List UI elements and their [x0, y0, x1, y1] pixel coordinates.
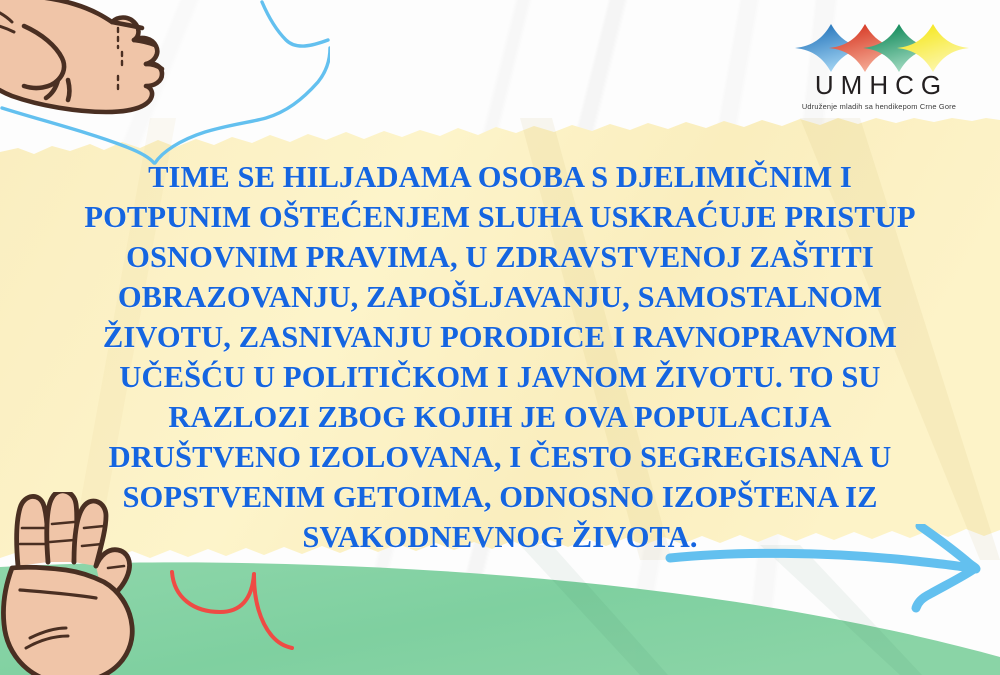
headline-line: SVAKODNEVNOG ŽIVOTA. — [40, 517, 960, 557]
umhcg-wordmark: UMHCG — [789, 72, 969, 98]
headline-line: POTPUNIM OŠTEĆENJEM SLUHA USKRAĆUJE PRIS… — [40, 197, 960, 237]
headline-line: OSNOVNIM PRAVIMA, U ZDRAVSTVENOJ ZAŠTITI — [40, 237, 960, 277]
headline-line: UČEŠĆU U POLITIČKOM I JAVNOM ŽIVOTU. TO … — [40, 357, 960, 397]
red-curve-icon — [168, 566, 298, 656]
headline-line: TIME SE HILJADAMA OSOBA S DJELIMIČNIM I — [40, 157, 960, 197]
headline-line: ŽIVOTU, ZASNIVANJU PORODICE I RAVNOPRAVN… — [40, 317, 960, 357]
umhcg-tagline: Udruženje mladih sa hendikepom Crne Gore — [789, 102, 969, 111]
sign-language-hand-fist-icon — [0, 0, 214, 118]
headline-line: SOPSTVENIM GETOIMA, ODNOSNO IZOPŠTENA IZ — [40, 477, 960, 517]
umhcg-logo: UMHCG Udruženje mladih sa hendikepom Crn… — [789, 18, 969, 114]
headline-line: RAZLOZI ZBOG KOJIH JE OVA POPULACIJA — [40, 397, 960, 437]
headline-line: DRUŠTVENO IZOLOVANA, I ČESTO SEGREGISANA… — [40, 437, 960, 477]
poster-canvas: UMHCG Udruženje mladih sa hendikepom Crn… — [0, 0, 1000, 675]
umhcg-logo-mark-icon — [789, 18, 969, 74]
poster-headline: TIME SE HILJADAMA OSOBA S DJELIMIČNIM IP… — [40, 157, 960, 557]
headline-line: OBRAZOVANJU, ZAPOŠLJAVANJU, SAMOSTALNOM — [40, 277, 960, 317]
